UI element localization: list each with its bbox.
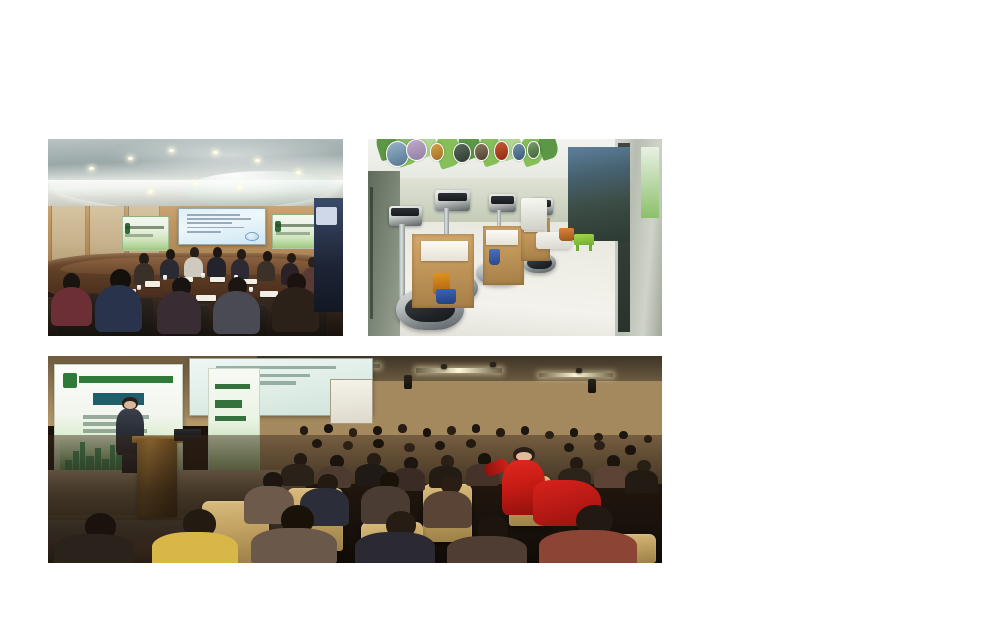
downlight-icon <box>169 149 174 152</box>
analyzer-display-head <box>389 206 423 226</box>
document-page <box>145 281 160 287</box>
attendee-head <box>213 247 222 257</box>
wall-photo-circle <box>527 141 541 159</box>
audience-body <box>625 470 658 493</box>
paper-sheet <box>421 241 468 261</box>
audience-head <box>644 435 653 443</box>
attendee-body <box>184 257 203 277</box>
audience-head <box>594 433 603 441</box>
wall-photo-circle <box>430 143 445 161</box>
audience-head <box>373 426 382 434</box>
wall-photo-circle <box>453 143 471 163</box>
audience-body <box>539 530 637 563</box>
water-cup <box>137 285 141 290</box>
attendee-body <box>207 257 225 277</box>
ceiling-light-strip <box>539 373 613 377</box>
audience-body <box>251 528 337 563</box>
attendee-body-back <box>272 287 319 332</box>
downlight-icon <box>89 167 94 170</box>
audience-head <box>447 426 456 434</box>
audience-head <box>300 426 309 434</box>
audience-head <box>521 426 530 434</box>
audience-head <box>619 431 628 439</box>
attendee-body-back <box>51 287 92 326</box>
audience-head <box>423 428 432 436</box>
projection-screen <box>178 208 267 245</box>
attendee-body-back <box>157 291 201 334</box>
loudspeaker-icon <box>404 375 412 389</box>
audience-head <box>404 443 414 453</box>
audience-head <box>625 445 635 455</box>
audience-head <box>349 428 358 436</box>
event-banner-left <box>122 216 169 251</box>
audience-body <box>281 464 314 487</box>
video-camera <box>314 198 344 312</box>
water-cup <box>163 275 167 280</box>
storage-bucket <box>436 289 457 305</box>
wall-photo-circle <box>406 139 427 161</box>
loudspeaker-icon <box>588 379 596 393</box>
audience-body <box>447 536 527 563</box>
downlight-icon <box>255 159 260 162</box>
attendee-body-back <box>95 285 142 332</box>
audience-head <box>398 424 407 432</box>
audience-body <box>54 534 134 563</box>
banner-text-line <box>215 400 242 408</box>
track-light-icon <box>490 362 496 367</box>
banner-text-line <box>215 416 246 421</box>
photo-collage <box>0 0 1000 640</box>
downlight-icon <box>213 151 218 154</box>
backdrop-title-text <box>79 376 173 384</box>
paper-sheet <box>486 230 518 246</box>
wall-mural-poster <box>568 147 630 242</box>
track-light-icon <box>441 364 447 369</box>
attendee-body <box>257 261 275 281</box>
audience-head <box>466 439 476 449</box>
audience-head <box>545 431 554 439</box>
ceiling-light-strip <box>416 368 502 372</box>
audience-body <box>355 532 435 563</box>
attendee-body-back <box>213 291 260 334</box>
analyzer-column <box>399 224 405 305</box>
brand-logo-icon <box>63 373 77 388</box>
downlight-icon <box>296 171 301 174</box>
attendee-head <box>237 249 246 259</box>
audience-head <box>594 441 604 451</box>
downlight-icon <box>128 157 133 160</box>
banner-text-line <box>215 384 250 389</box>
wall-photo-circle <box>474 143 489 161</box>
storage-bucket <box>559 228 574 242</box>
audience-body <box>152 532 238 563</box>
audience-head <box>373 439 383 449</box>
audience-head <box>570 428 579 436</box>
green-stool <box>574 234 595 246</box>
audience-head <box>324 424 333 432</box>
storage-bucket <box>489 249 501 265</box>
wall-noticeboard <box>330 379 373 425</box>
photo-body-composition-analyzers-hallway[interactable] <box>368 139 662 336</box>
audience-head <box>472 424 481 432</box>
wall-photo-circle <box>494 141 509 161</box>
photo-conference-room-roundtable[interactable] <box>48 139 343 336</box>
green-wall-poster <box>641 147 659 218</box>
slide-logo-icon <box>245 232 259 241</box>
white-chair <box>521 198 547 230</box>
brand-logo-icon <box>275 221 281 232</box>
audience-head <box>496 428 505 436</box>
attendee-head <box>263 251 272 261</box>
audience-body <box>423 491 472 528</box>
photo-auditorium-lecture-shanghai[interactable] <box>48 356 662 563</box>
document-page <box>210 277 225 282</box>
audience-body <box>594 466 627 489</box>
water-cup <box>249 287 253 292</box>
wall-photo-circle <box>512 143 526 161</box>
document-page <box>196 295 217 302</box>
brand-logo-icon <box>125 223 130 234</box>
